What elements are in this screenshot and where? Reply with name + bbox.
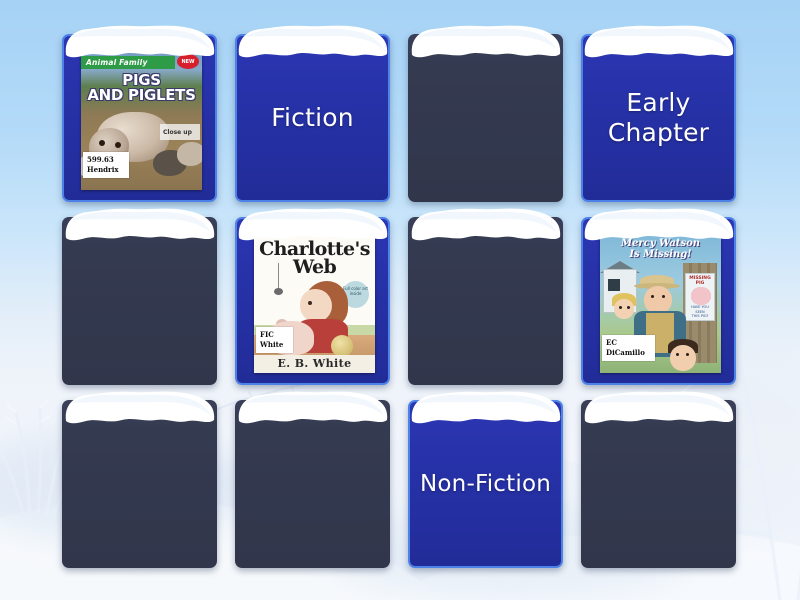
girl-eye-shape (308, 301, 312, 305)
tile-back (581, 400, 736, 568)
book-cover-charlottes-web: Charlotte's Web Full color art inside E.… (254, 233, 375, 373)
tile-fiction[interactable]: Fiction (235, 34, 390, 202)
tile-blank[interactable] (581, 400, 736, 568)
tile-blank[interactable] (62, 217, 217, 385)
tile-blank[interactable] (62, 400, 217, 568)
series-label: Animal Family (81, 58, 148, 67)
tile-back (408, 217, 563, 385)
boy-eye-shape (676, 353, 679, 356)
call-number-label: EC DiCamillo (602, 335, 655, 361)
girl-eye-shape (619, 306, 622, 309)
book-cover-pigs-and-piglets: Animal Family NEW PIGS AND PIGLETS Close… (81, 50, 202, 190)
pig-eye-shape (99, 140, 105, 146)
web-thread-shape (278, 263, 279, 289)
tile-blank[interactable] (408, 217, 563, 385)
man-eye-shape (651, 295, 654, 298)
tile-face: Fiction (235, 34, 390, 202)
boy-eye-shape (686, 353, 689, 356)
tile-back (62, 217, 217, 385)
cover-title: PIGS AND PIGLETS (81, 73, 202, 104)
house-window-shape (608, 279, 620, 291)
tile-face: Mercy Watson Is Missing! MISSING PIG HAV… (581, 217, 736, 385)
girl-face-shape (300, 289, 332, 322)
poster-pig-photo (691, 287, 711, 305)
series-banner: Animal Family (81, 56, 175, 69)
tile-face: Non-Fiction (408, 400, 563, 568)
award-medal-icon (331, 335, 353, 357)
man-eye-shape (662, 295, 665, 298)
cover-sticker: Close up (160, 124, 200, 140)
poster-heading: MISSING PIG (686, 276, 714, 286)
tile-label-non-fiction: Non-Fiction (410, 402, 561, 566)
pig-eye-shape (115, 142, 121, 148)
girl-eye-shape (627, 306, 630, 309)
new-badge: NEW (177, 54, 199, 69)
tile-early-chapter[interactable]: Early Chapter (581, 34, 736, 202)
tile-back (408, 34, 563, 202)
girl-face-shape (614, 299, 634, 319)
cover-author: E. B. White (254, 355, 375, 373)
call-number-label: 599.63 Hendrix (83, 152, 129, 178)
cover-title: Mercy Watson Is Missing! (600, 238, 721, 260)
missing-pig-poster: MISSING PIG HAVE YOU SEEN THIS PIG? (685, 273, 715, 321)
piglet-shape (177, 142, 202, 166)
man-face-shape (644, 286, 672, 314)
tile-grid: Animal Family NEW PIGS AND PIGLETS Close… (62, 34, 752, 570)
tile-back (235, 400, 390, 568)
poster-note: HAVE YOU SEEN THIS PIG? (686, 305, 714, 318)
cover-title: Charlotte's Web (254, 241, 375, 277)
tile-blank[interactable] (235, 400, 390, 568)
tile-face: Charlotte's Web Full color art inside E.… (235, 217, 390, 385)
tile-back (62, 400, 217, 568)
call-number-label: FIC White (256, 327, 293, 353)
boy-face-shape (670, 345, 696, 371)
tile-non-fiction[interactable]: Non-Fiction (408, 400, 563, 568)
tile-label-fiction: Fiction (237, 36, 388, 200)
game-stage: Animal Family NEW PIGS AND PIGLETS Close… (0, 0, 800, 600)
tile-face: Early Chapter (581, 34, 736, 202)
tile-face: Animal Family NEW PIGS AND PIGLETS Close… (62, 34, 217, 202)
book-cover-mercy-watson: Mercy Watson Is Missing! MISSING PIG HAV… (600, 233, 721, 373)
tile-mercy-watson-is-missing[interactable]: Mercy Watson Is Missing! MISSING PIG HAV… (581, 217, 736, 385)
tile-pigs-and-piglets[interactable]: Animal Family NEW PIGS AND PIGLETS Close… (62, 34, 217, 202)
tile-charlottes-web[interactable]: Charlotte's Web Full color art inside E.… (235, 217, 390, 385)
tile-blank[interactable] (408, 34, 563, 202)
spider-icon (274, 288, 283, 295)
tile-label-early-chapter: Early Chapter (583, 36, 734, 200)
